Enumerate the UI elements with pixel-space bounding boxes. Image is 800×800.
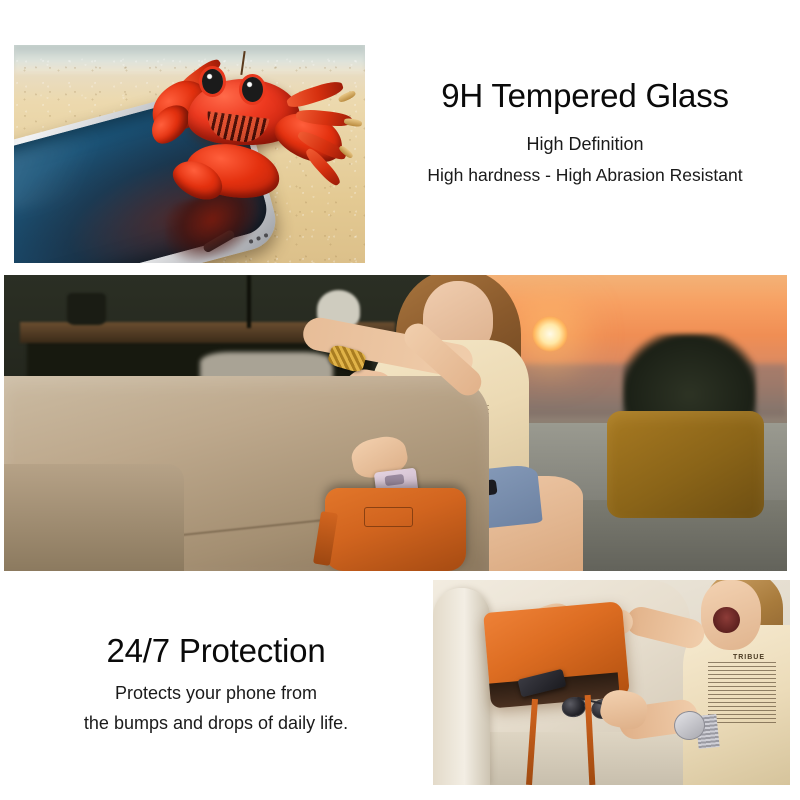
crab-antenna (240, 51, 245, 75)
lamp-stand (247, 275, 251, 328)
crab-eye-left (202, 69, 223, 94)
crab-on-phone-photo (14, 45, 365, 263)
light-sofa-armrest (433, 588, 490, 785)
tempered-glass-headline: 9H Tempered Glass (378, 78, 792, 114)
protection-subline-2: the bumps and drops of daily life. (14, 713, 418, 734)
protection-subline-1: Protects your phone from (14, 683, 418, 704)
crab (146, 53, 354, 223)
crab-leg (285, 78, 345, 110)
sun (532, 316, 568, 352)
olive-pillow (607, 411, 764, 518)
crab-eye-right (242, 77, 263, 102)
protection-text-block: 24/7 Protection Protects your phone from… (14, 632, 418, 734)
product-feature-graphic: 9H Tempered Glass High Definition High h… (0, 0, 800, 800)
light-sofa-seat (469, 732, 697, 785)
sofa-armrest (4, 464, 184, 571)
handbag-brand-patch (364, 507, 413, 527)
tempered-glass-text-block: 9H Tempered Glass High Definition High h… (378, 78, 792, 186)
vase-dark (67, 293, 106, 326)
open-mouth (713, 607, 740, 634)
speaker-grille-dot (264, 233, 269, 238)
orange-handbag (325, 488, 466, 571)
bag-drop-photo: TRIBUE (433, 580, 790, 785)
tempered-glass-subline-2: High hardness - High Abrasion Resistant (378, 165, 792, 186)
tank-top-print-title: TRIBUE (733, 654, 765, 661)
screen-glare (14, 120, 147, 227)
protection-headline: 24/7 Protection (14, 632, 418, 670)
tank-top-print-lines (708, 662, 776, 724)
sofa-sunset-photo (4, 275, 787, 571)
tempered-glass-subline-1: High Definition (378, 134, 792, 155)
